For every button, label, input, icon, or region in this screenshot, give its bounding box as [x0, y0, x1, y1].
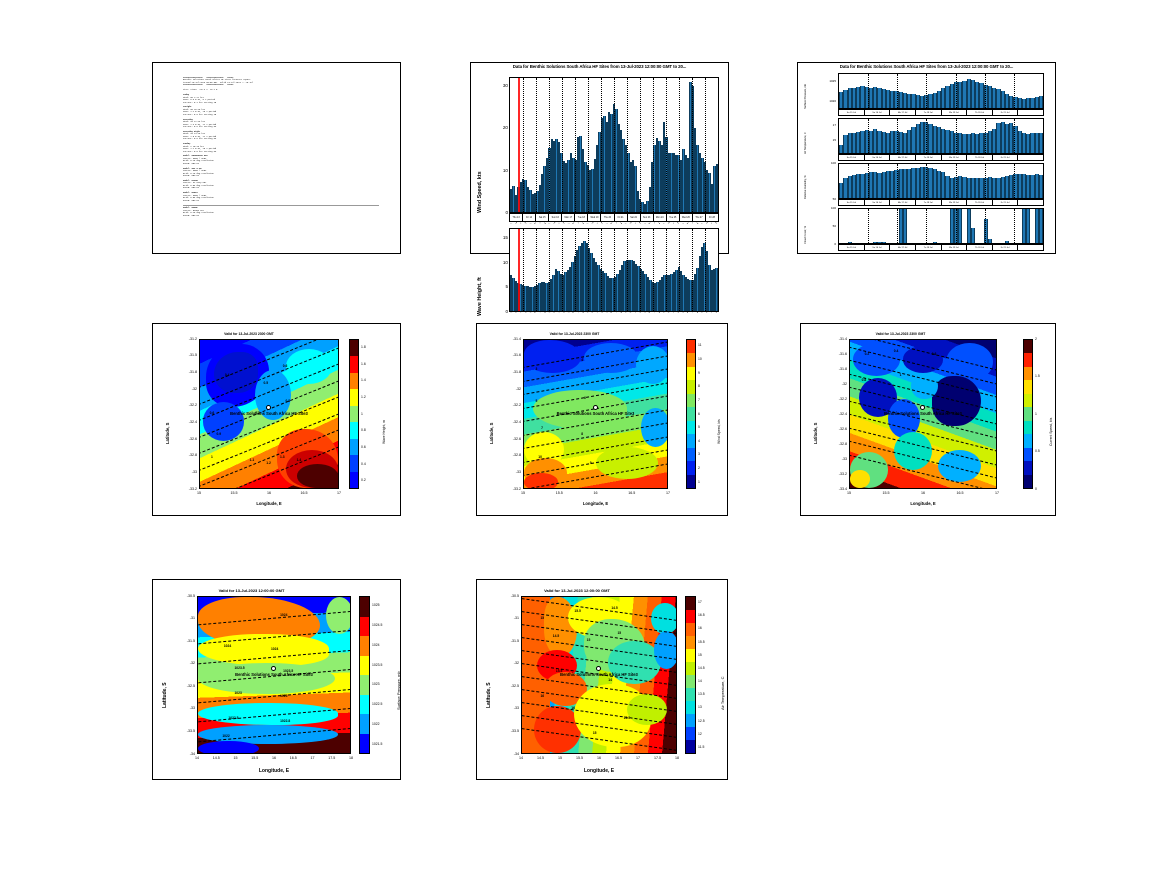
x-tick-label: 17.5: [323, 756, 341, 760]
y-tick-label: 0: [493, 309, 508, 314]
temp-contour-axes: 1515.514.514.5151515.516161414.515Benthi…: [521, 596, 677, 754]
cloud-cover-ylabel: Cloud Cover, %: [804, 226, 807, 244]
gridline: [926, 209, 927, 243]
pressure-contour-title: Valid for 13-Jul-2023 12:00:00 GMT: [153, 588, 350, 593]
gridline: [588, 78, 589, 212]
colorbar-swatch: [1024, 394, 1032, 407]
day-label: Fri 14: [523, 214, 536, 221]
day-label: Thu 13: [510, 214, 523, 221]
colorbar-swatch: [360, 734, 369, 754]
report-line: Datum: WGS-84: [183, 215, 394, 217]
colorbar-swatch: [1024, 407, 1032, 420]
gridline: [985, 119, 986, 153]
x-tick-label: 15: [551, 756, 569, 760]
day-label-row: Sa 15 JulSu 16 JulMo 17 JulTu 18 JulWe 1…: [838, 199, 1044, 206]
bar: [958, 209, 962, 243]
y-tick-label: 50: [816, 224, 836, 228]
relative-humidity-ylabel: Relative Humidity, %: [804, 175, 807, 199]
gridline: [956, 164, 957, 198]
pressure-contour-axes: 1024102410241023.51023.5102310231022.510…: [197, 596, 351, 754]
x-tick-label: 17: [304, 756, 322, 760]
colorbar-swatch: [1024, 340, 1032, 353]
site-label: Benthic Solutions South Africa HF Site3: [527, 411, 664, 416]
gridline: [956, 209, 957, 243]
gridline: [1014, 119, 1015, 153]
y-tick-label: -31.8: [828, 367, 847, 371]
air-temperature-ylabel: Air Temperature, C: [804, 132, 807, 154]
x-tick-label: 17.5: [649, 756, 667, 760]
temp-contour-xlabel: Longitude, E: [521, 768, 677, 774]
contour-region: [654, 631, 677, 668]
contour-label: 1024: [271, 647, 278, 651]
gridline: [1014, 74, 1015, 108]
pressure-colorbar-label: Surface Pressure, mb: [396, 671, 401, 710]
gridline: [985, 164, 986, 198]
y-tick-label: -31.8: [178, 370, 197, 374]
wave-contour-axes: 0.40.50.60.60.70.80.911.11.21.31.4Benthi…: [199, 339, 339, 489]
day-label: Tue 18: [575, 214, 588, 221]
y-tick-label: -32.6: [502, 437, 521, 441]
wind-colorbar: [686, 339, 696, 489]
day-label: Mo 17 Jul: [890, 155, 916, 160]
colorbar-swatch: [686, 701, 695, 714]
day-label: Sun 23: [641, 214, 654, 221]
colorbar-tick-label: 12: [698, 732, 702, 736]
colorbar-swatch: [687, 407, 695, 420]
gridline: [523, 229, 524, 311]
gridline: [926, 164, 927, 198]
y-tick-label: -32.2: [178, 403, 197, 407]
gridline: [666, 229, 667, 311]
gridline: [562, 78, 563, 212]
contour-label: 1022.8: [280, 719, 290, 723]
day-label: Th 20 Jul: [967, 200, 993, 205]
colorbar-swatch: [350, 439, 358, 455]
colorbar-tick-label: 16.5: [698, 613, 705, 617]
colorbar-tick-label: 1022.5: [372, 702, 382, 706]
divider: [183, 205, 379, 206]
y-tick-label: -31.4: [502, 337, 521, 341]
contour-region: [297, 464, 338, 488]
colorbar-swatch: [360, 695, 369, 715]
surface-pressure-ylabel: Surface Pressure, mb: [804, 84, 807, 109]
y-tick-label: -32.2: [828, 397, 847, 401]
site-marker[interactable]: [271, 666, 276, 671]
site-marker[interactable]: [596, 666, 601, 671]
colorbar-swatch: [687, 461, 695, 474]
y-tick-label: -32.6: [828, 427, 847, 431]
colorbar-swatch: [686, 623, 695, 636]
contour-region: [198, 663, 335, 694]
colorbar-swatch: [686, 727, 695, 740]
wave-contour-xlabel: Longitude, E: [199, 501, 339, 506]
y-tick-label: -32: [828, 382, 847, 386]
contour-label: 1023: [280, 694, 287, 698]
contour-label: 0.2: [865, 352, 870, 356]
current-contour-ylabel: Latitude, S: [813, 423, 818, 444]
current-time-marker: [518, 78, 520, 212]
colorbar-swatch: [350, 472, 358, 488]
colorbar-swatch: [1024, 475, 1032, 488]
air-temperature-axes: [838, 118, 1044, 154]
gridline: [679, 229, 680, 311]
colorbar-tick-label: 0.5: [1035, 449, 1040, 453]
colorbar-swatch: [687, 380, 695, 393]
wind-colorbar-label: Wind Speed, kts: [717, 419, 721, 444]
y-tick-label: -33.2: [828, 472, 847, 476]
day-label: Tu 18 Jul: [916, 110, 942, 115]
x-tick-label: 16: [590, 756, 608, 760]
colorbar-tick-label: 1.2: [361, 395, 366, 399]
gridline: [549, 229, 550, 311]
day-label: We 19 Jul: [942, 245, 968, 250]
colorbar-tick-label: 7: [698, 398, 700, 402]
colorbar-tick-label: 17: [698, 600, 702, 604]
contour-label: 1.2: [266, 461, 271, 465]
day-label: Fr 21 Jul: [993, 155, 1019, 160]
day-label: Thu 20: [601, 214, 614, 221]
colorbar-swatch: [350, 389, 358, 405]
contour-label: 3: [535, 367, 537, 371]
colorbar-tick-label: 1021.5: [372, 742, 382, 746]
bar: [715, 268, 717, 311]
colorbar-tick-label: 0: [1035, 487, 1037, 491]
temp-contour-ylabel: Latitude, S: [486, 682, 492, 708]
contour-label: 0.9: [217, 432, 222, 436]
day-label: Mon 24: [654, 214, 667, 221]
bar-series: [839, 74, 1043, 108]
x-tick-label: 14: [512, 756, 530, 760]
colorbar-swatch: [687, 353, 695, 366]
cloud-cover-axes: [838, 208, 1044, 244]
x-tick-label: 15.5: [571, 756, 589, 760]
day-label: Th 20 Jul: [967, 110, 993, 115]
report-line: [183, 202, 394, 204]
day-label: Wed 26: [680, 214, 693, 221]
gridline: [653, 229, 654, 311]
wave-colorbar: [349, 339, 359, 489]
contour-label: 15: [587, 638, 591, 642]
gridline: [956, 119, 957, 153]
contour-label: 1: [900, 373, 902, 377]
y-tick-label: -31.2: [178, 337, 197, 341]
colorbar-swatch: [1024, 461, 1032, 474]
current-contour-axes: 0.20.40.60.81Benthic Solutions South Afr…: [849, 339, 997, 489]
day-label: Mon 17: [562, 214, 575, 221]
colorbar-swatch: [686, 714, 695, 727]
day-label: We 19 Jul: [942, 110, 968, 115]
current-colorbar-label: Current Speed, kts: [1049, 418, 1053, 446]
gridline: [897, 164, 898, 198]
temp-colorbar-label: Air Temperature, C: [720, 677, 725, 711]
y-tick-label: 20: [493, 125, 508, 130]
contour-region: [524, 340, 581, 373]
gridline: [679, 78, 680, 212]
colorbar-tick-label: 3: [698, 452, 700, 456]
y-tick-label: 100: [816, 161, 836, 165]
contour-label: 0.8: [862, 378, 867, 382]
y-tick-label: -31.5: [500, 639, 519, 643]
day-label: Th 20 Jul: [967, 245, 993, 250]
y-tick-label: -32.8: [828, 442, 847, 446]
contour-label: 8: [581, 432, 583, 436]
day-label: Fr 21 Jul: [993, 110, 1019, 115]
y-tick-label: -33: [500, 706, 519, 710]
y-tick-label: -33: [178, 470, 197, 474]
y-tick-label: -33.2: [502, 487, 521, 491]
colorbar-tick-label: 14: [698, 679, 702, 683]
day-label: Mo 17 Jul: [890, 200, 916, 205]
contour-label: 15.5: [574, 609, 580, 613]
gridline: [627, 78, 628, 212]
y-tick-label: -32.4: [178, 420, 197, 424]
contour-label: 14.5: [611, 606, 617, 610]
colorbar-tick-label: 15.5: [698, 640, 705, 644]
x-tick-label: 16: [914, 491, 932, 495]
colorbar-swatch: [1024, 448, 1032, 461]
colorbar-tick-label: 13: [698, 705, 702, 709]
wind-contour-axes: 345678910Benthic Solutions South Africa …: [523, 339, 668, 489]
colorbar-tick-label: 1.5: [1035, 374, 1040, 378]
colorbar-tick-label: 0.4: [361, 462, 366, 466]
y-tick-label: -31: [500, 616, 519, 620]
wind-contour-ylabel: Latitude, S: [489, 423, 494, 444]
gridline: [868, 74, 869, 108]
current-colorbar: [1023, 339, 1033, 489]
contour-label: 5: [535, 399, 537, 403]
contour-label: 0.8: [286, 399, 291, 403]
gridline: [536, 78, 537, 212]
day-label: Fr 21 Jul: [993, 245, 1019, 250]
day-label: [1018, 155, 1043, 160]
day-label: Sa 15 Jul: [839, 200, 865, 205]
colorbar-tick-label: 1.6: [361, 362, 366, 366]
y-tick-label: 0: [493, 210, 508, 215]
contour-label: 4: [581, 358, 583, 362]
y-tick-label: -33: [828, 457, 847, 461]
relative-humidity-axes: [838, 163, 1044, 199]
colorbar-swatch: [687, 434, 695, 447]
gridline: [549, 78, 550, 212]
y-tick-label: -32: [178, 387, 197, 391]
bar: [988, 239, 992, 243]
bar: [716, 164, 718, 212]
y-tick-label: 5: [493, 284, 508, 289]
day-label: Tu 18 Jul: [916, 245, 942, 250]
bar: [848, 242, 852, 243]
pressure-colorbar: [359, 596, 370, 754]
y-tick-label: 17: [816, 123, 836, 127]
gridline: [627, 229, 628, 311]
bar: [1039, 209, 1043, 243]
gridline: [640, 229, 641, 311]
day-label: Sun 16: [549, 214, 562, 221]
contour-label: 1024: [280, 613, 287, 617]
y-tick-label: -34: [176, 752, 195, 756]
x-tick-label: 15: [514, 491, 532, 495]
contour-label: 6: [584, 396, 586, 400]
colorbar-swatch: [687, 475, 695, 488]
colorbar-tick-label: 1: [698, 480, 700, 484]
x-tick-label: 17: [659, 491, 677, 495]
bar: [971, 228, 975, 243]
contour-region: [326, 597, 351, 634]
colorbar-swatch: [686, 675, 695, 688]
current-contour-title: Valid for 13-Jul-2023 2300 GMT: [801, 332, 1000, 336]
contour-label: 1023.5: [234, 666, 244, 670]
y-tick-label: -32.8: [178, 453, 197, 457]
contour-label: 1023: [234, 691, 241, 695]
colorbar-tick-label: 0.6: [361, 445, 366, 449]
gridline: [868, 119, 869, 153]
colorbar-tick-label: 10: [698, 357, 702, 361]
site-label: Benthic Solutions South Africa HF Site3: [203, 411, 335, 416]
gridline: [601, 78, 602, 212]
colorbar-swatch: [360, 617, 369, 637]
day-label: Fri 21: [615, 214, 628, 221]
y-tick-label: -31.6: [828, 352, 847, 356]
x-tick-label: 15.5: [550, 491, 568, 495]
x-tick-label: 14: [188, 756, 206, 760]
bar: [1026, 209, 1030, 243]
colorbar-swatch: [687, 340, 695, 353]
contour-label: 10: [538, 455, 542, 459]
y-tick-label: -33: [502, 470, 521, 474]
day-label: Sa 15 Jul: [839, 245, 865, 250]
pressure-contour-xlabel: Longitude, E: [197, 768, 351, 774]
wave-contour-title: Valid for 13-Jul-2023 2300 GMT: [153, 332, 345, 336]
contour-label: 0.6: [932, 352, 937, 356]
y-tick-label: -33.5: [500, 729, 519, 733]
day-label-row: Sa 15 JulSu 16 JulMo 17 JulTu 18 JulWe 1…: [838, 109, 1044, 116]
colorbar-swatch: [360, 636, 369, 656]
gridline: [653, 78, 654, 212]
x-tick-label: 15.5: [246, 756, 264, 760]
colorbar-tick-label: 12.5: [698, 719, 705, 723]
y-tick-label: 15: [816, 138, 836, 142]
colorbar-swatch: [350, 373, 358, 389]
wave-direction-arrows: ←↗↓↖→↙↑↘←↗↓↖→↙↑↘←↗↓↖→↙↑↘←↗↓↖→↙↑↘←↗↓↖→↙↑↘…: [509, 312, 719, 317]
y-tick-label: -31.5: [176, 639, 195, 643]
day-label: Sa 15 Jul: [839, 110, 865, 115]
colorbar-swatch: [686, 597, 695, 610]
day-label: We 19 Jul: [942, 155, 968, 160]
colorbar-swatch: [1024, 434, 1032, 447]
day-label: [1018, 110, 1043, 115]
colorbar-tick-label: 1.8: [361, 345, 366, 349]
colorbar-swatch: [1024, 380, 1032, 393]
colorbar-tick-label: 1024: [372, 643, 380, 647]
wind-wave-timeseries-panel: Data for Benthic Solutions South Africa …: [470, 62, 729, 254]
colorbar-tick-label: 2: [1035, 337, 1037, 341]
y-tick-label: 10: [493, 260, 508, 265]
colorbar-tick-label: 1022: [372, 722, 380, 726]
site-label: Benthic Solutions South Africa HF Site3: [201, 672, 347, 677]
day-label: Th 20 Jul: [967, 155, 993, 160]
gridline: [985, 209, 986, 243]
site-label: Benthic Solutions South Africa HF Site3: [525, 672, 673, 677]
colorbar-tick-label: 9: [698, 371, 700, 375]
contour-label: 1.4: [297, 458, 302, 462]
bar: [1039, 96, 1043, 108]
contour-label: 1.1: [250, 458, 255, 462]
gridline: [985, 74, 986, 108]
colorbar-tick-label: 14.5: [698, 666, 705, 670]
contour-label: 16: [571, 706, 575, 710]
bar: [1005, 241, 1009, 243]
x-tick-label: 16: [265, 756, 283, 760]
colorbar-tick-label: 8: [698, 384, 700, 388]
colorbar-tick-label: 1: [361, 412, 363, 416]
colorbar-swatch: [360, 675, 369, 695]
wind-speed-axes: [509, 77, 719, 213]
contour-label: 9: [590, 461, 592, 465]
y-tick-label: -30.5: [176, 594, 195, 598]
gridline: [523, 78, 524, 212]
day-label: [1018, 200, 1043, 205]
pressure-contour-ylabel: Latitude, S: [162, 682, 168, 708]
day-label: Wed 19: [588, 214, 601, 221]
gridline: [868, 164, 869, 198]
colorbar-swatch: [686, 649, 695, 662]
contour-label: 0.5: [263, 381, 268, 385]
gridline: [614, 229, 615, 311]
colorbar-tick-label: 11.5: [698, 745, 704, 749]
x-tick-label: 17: [988, 491, 1006, 495]
gridline: [588, 229, 589, 311]
y-tick-label: -34: [500, 752, 519, 756]
contour-region: [198, 741, 259, 754]
colorbar-swatch: [686, 662, 695, 675]
day-label: Mo 17 Jul: [890, 245, 916, 250]
colorbar-swatch: [686, 740, 695, 753]
air-temperature-contour-panel: Valid for 13-Jul-2023 12:00:00 GMT 1515.…: [476, 579, 728, 780]
contour-label: 1.3: [280, 455, 285, 459]
contour-region: [894, 432, 932, 470]
bar: [1039, 175, 1043, 198]
contour-region: [533, 390, 627, 428]
day-label: Sat 22: [628, 214, 641, 221]
contour-label: 15: [617, 631, 621, 635]
day-label: Mo 17 Jul: [890, 110, 916, 115]
colorbar-swatch: [686, 688, 695, 701]
bar: [933, 242, 937, 243]
current-time-marker: [518, 229, 520, 311]
gridline: [692, 78, 693, 212]
colorbar-swatch: [687, 448, 695, 461]
x-tick-label: 15: [840, 491, 858, 495]
site-marker[interactable]: [593, 405, 598, 410]
gridline: [1014, 209, 1015, 243]
wave-height-axes: [509, 228, 719, 312]
x-tick-label: 16.5: [951, 491, 969, 495]
y-tick-label: -33.2: [178, 487, 197, 491]
contour-label: 7: [541, 426, 543, 430]
contour-region: [198, 703, 338, 725]
gridline: [705, 78, 706, 212]
gridline: [640, 78, 641, 212]
colorbar-swatch: [350, 422, 358, 438]
day-label: Tu 18 Jul: [916, 155, 942, 160]
y-tick-label: -32.8: [502, 453, 521, 457]
y-tick-label: -31: [176, 616, 195, 620]
day-label: Su 16 Jul: [865, 245, 891, 250]
panel3-title: Data for Benthic Solutions South Africa …: [798, 64, 1055, 69]
contour-label: 1022: [222, 734, 229, 738]
y-tick-label: -32: [500, 661, 519, 665]
contour-label: 1: [211, 455, 213, 459]
contour-label: 15: [540, 616, 544, 620]
